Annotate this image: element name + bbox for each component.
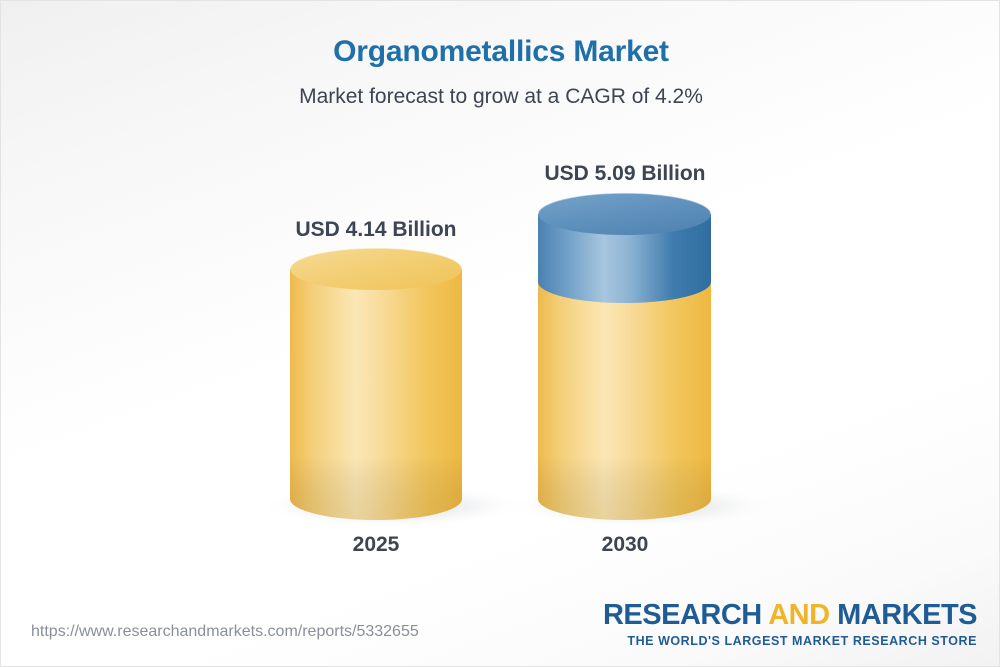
logo-word-research: RESEARCH <box>603 599 762 631</box>
research-and-markets-logo[interactable]: RESEARCH AND MARKETS THE WORLD'S LARGEST… <box>603 601 977 648</box>
logo-tagline: THE WORLD'S LARGEST MARKET RESEARCH STOR… <box>603 635 977 648</box>
cylinder-2030 <box>538 193 711 520</box>
category-label-2025: 2025 <box>290 533 462 557</box>
logo-wordmark: RESEARCH AND MARKETS <box>603 601 977 630</box>
category-label-2030: 2030 <box>538 533 712 557</box>
cylinder-2025-base-shade <box>290 456 462 520</box>
cylinder-2025 <box>290 248 462 520</box>
value-label-2030: USD 5.09 Billion <box>538 162 712 186</box>
cylinder-2030-base-shade <box>538 456 711 520</box>
infographic-canvas: Organometallics Market Market forecast t… <box>0 0 1000 667</box>
report-url[interactable]: https://www.researchandmarkets.com/repor… <box>31 623 419 641</box>
logo-word-and: AND <box>762 599 837 631</box>
cylinder-bar-chart <box>1 1 1000 601</box>
chart-plot-area: USD 4.14 Billion USD 5.09 Billion 2025 2… <box>1 1 1000 601</box>
logo-word-markets: MARKETS <box>837 599 977 631</box>
value-label-2025: USD 4.14 Billion <box>290 218 462 242</box>
